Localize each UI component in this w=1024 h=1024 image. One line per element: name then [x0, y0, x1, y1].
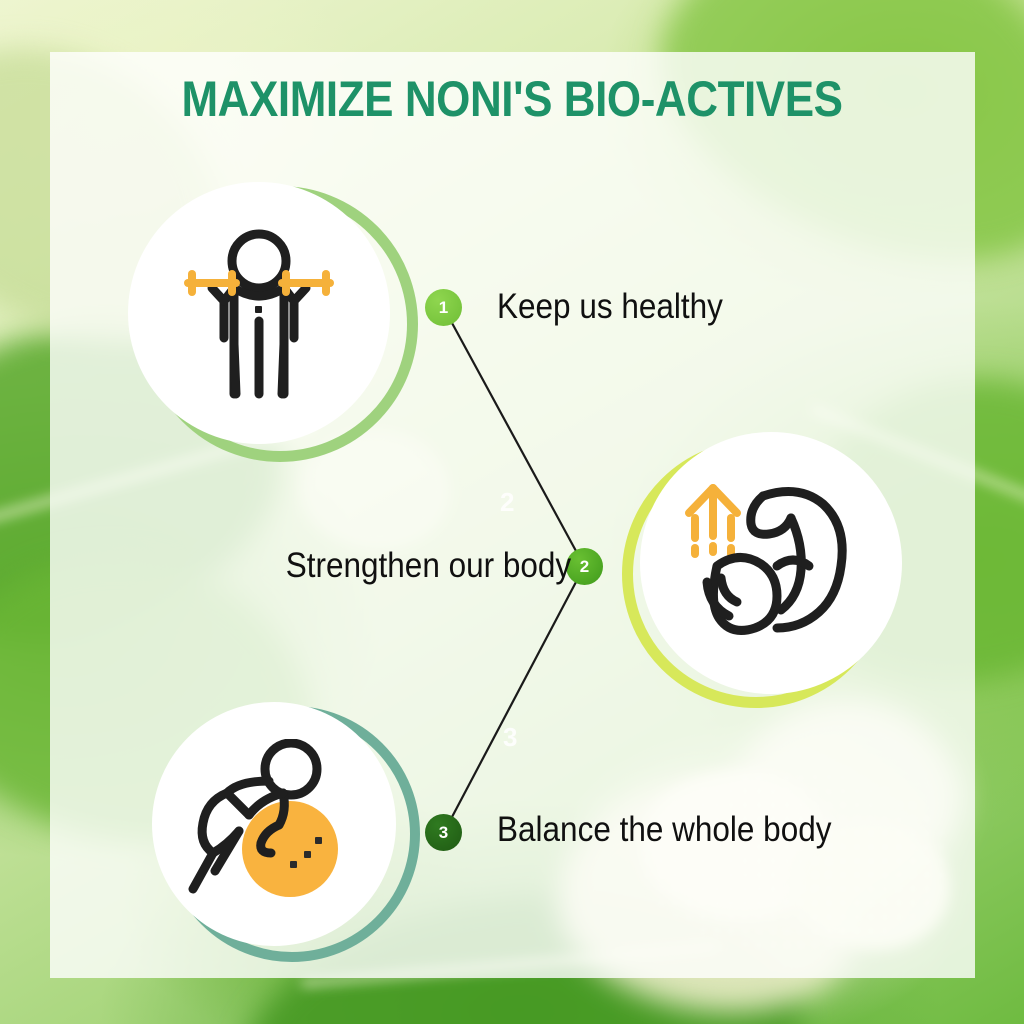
step-2-icon-circle [622, 432, 912, 722]
step-1-icon-circle [128, 182, 418, 472]
step-2-number-badge[interactable]: 2 [566, 548, 603, 585]
flexed-biceps-arm-icon [681, 478, 861, 648]
step-2-label: Strengthen our body [286, 548, 571, 583]
step-3-number: 3 [439, 823, 448, 843]
step-2-number: 2 [580, 557, 589, 577]
step-1-number: 1 [439, 298, 448, 318]
step-1-number-badge[interactable]: 1 [425, 289, 462, 326]
exercise-ball-stretch-icon [187, 739, 362, 909]
step-3-disc [152, 702, 396, 946]
step-3-label: Balance the whole body [497, 812, 831, 847]
step-2-disc [640, 432, 902, 694]
step-1-label: Keep us healthy [497, 289, 723, 324]
up-arrow-icon [689, 488, 737, 554]
infographic-canvas: 2 3 MAXIMIZE NONI'S BIO-ACTIVES [0, 0, 1024, 1024]
page-title: MAXIMIZE NONI'S BIO-ACTIVES [61, 74, 962, 124]
weightlifter-person-icon [174, 226, 344, 401]
step-3-icon-circle [152, 702, 422, 972]
step-3-number-badge[interactable]: 3 [425, 814, 462, 851]
exercise-ball [242, 801, 338, 897]
step-1-disc [128, 182, 390, 444]
